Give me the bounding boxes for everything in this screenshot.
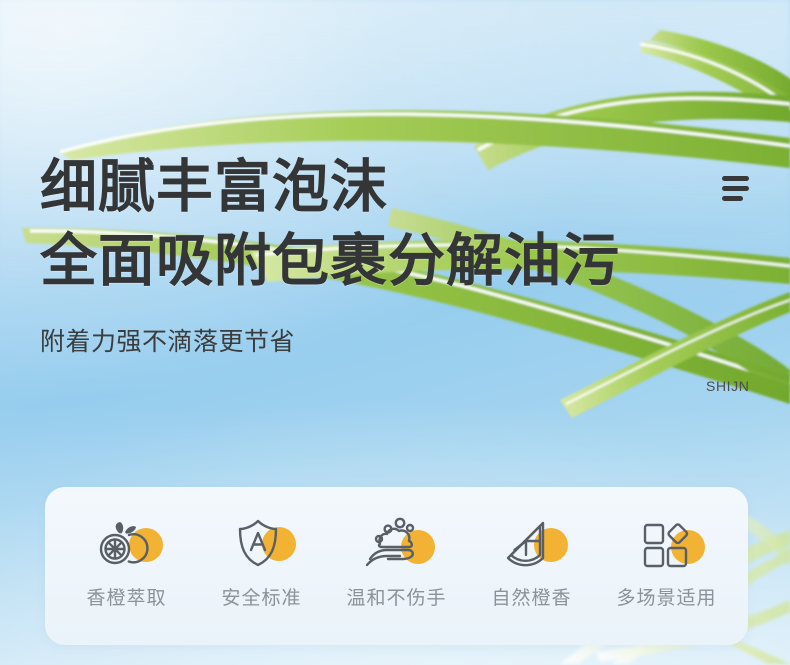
multi-scene-grid-icon <box>631 514 703 572</box>
headline-block: 细腻丰富泡沫 全面吸附包裹分解油污 附着力强不滴落更节省 <box>40 150 620 358</box>
promo-banner: 细腻丰富泡沫 全面吸附包裹分解油污 附着力强不滴落更节省 SHIJN <box>0 0 790 665</box>
feature-label: 自然橙香 <box>491 583 571 610</box>
feature-item-multi-scene[interactable]: 多场景适用 <box>601 514 733 610</box>
orange-fruit-icon <box>91 514 163 572</box>
feature-card: 香橙萃取 安全标准 <box>45 487 748 645</box>
feature-item-natural-orange-scent[interactable]: 自然橙香 <box>466 514 598 610</box>
hamburger-bar-3 <box>722 196 743 201</box>
feature-label: 温和不伤手 <box>346 583 446 610</box>
headline-subtitle: 附着力强不滴落更节省 <box>40 322 620 358</box>
headline-line-2: 全面吸附包裹分解油污 <box>40 224 620 298</box>
feature-label: 香橙萃取 <box>86 583 166 610</box>
feature-list: 香橙萃取 安全标准 <box>45 487 748 645</box>
feature-label: 安全标准 <box>221 583 301 610</box>
feature-item-safety-standard[interactable]: 安全标准 <box>196 514 328 610</box>
hand-foam-icon <box>361 514 433 572</box>
hamburger-bar-1 <box>722 176 749 181</box>
headline-line-1: 细腻丰富泡沫 <box>40 150 620 224</box>
brand-wordmark: SHIJN <box>706 378 749 394</box>
feature-item-gentle-on-hands[interactable]: 温和不伤手 <box>331 514 463 610</box>
hamburger-menu-icon[interactable] <box>722 176 749 202</box>
hamburger-bar-2 <box>722 186 749 191</box>
orange-slice-icon <box>496 514 568 572</box>
shield-a-icon <box>226 514 298 572</box>
feature-label: 多场景适用 <box>616 583 716 610</box>
feature-item-orange-extract[interactable]: 香橙萃取 <box>61 514 193 610</box>
